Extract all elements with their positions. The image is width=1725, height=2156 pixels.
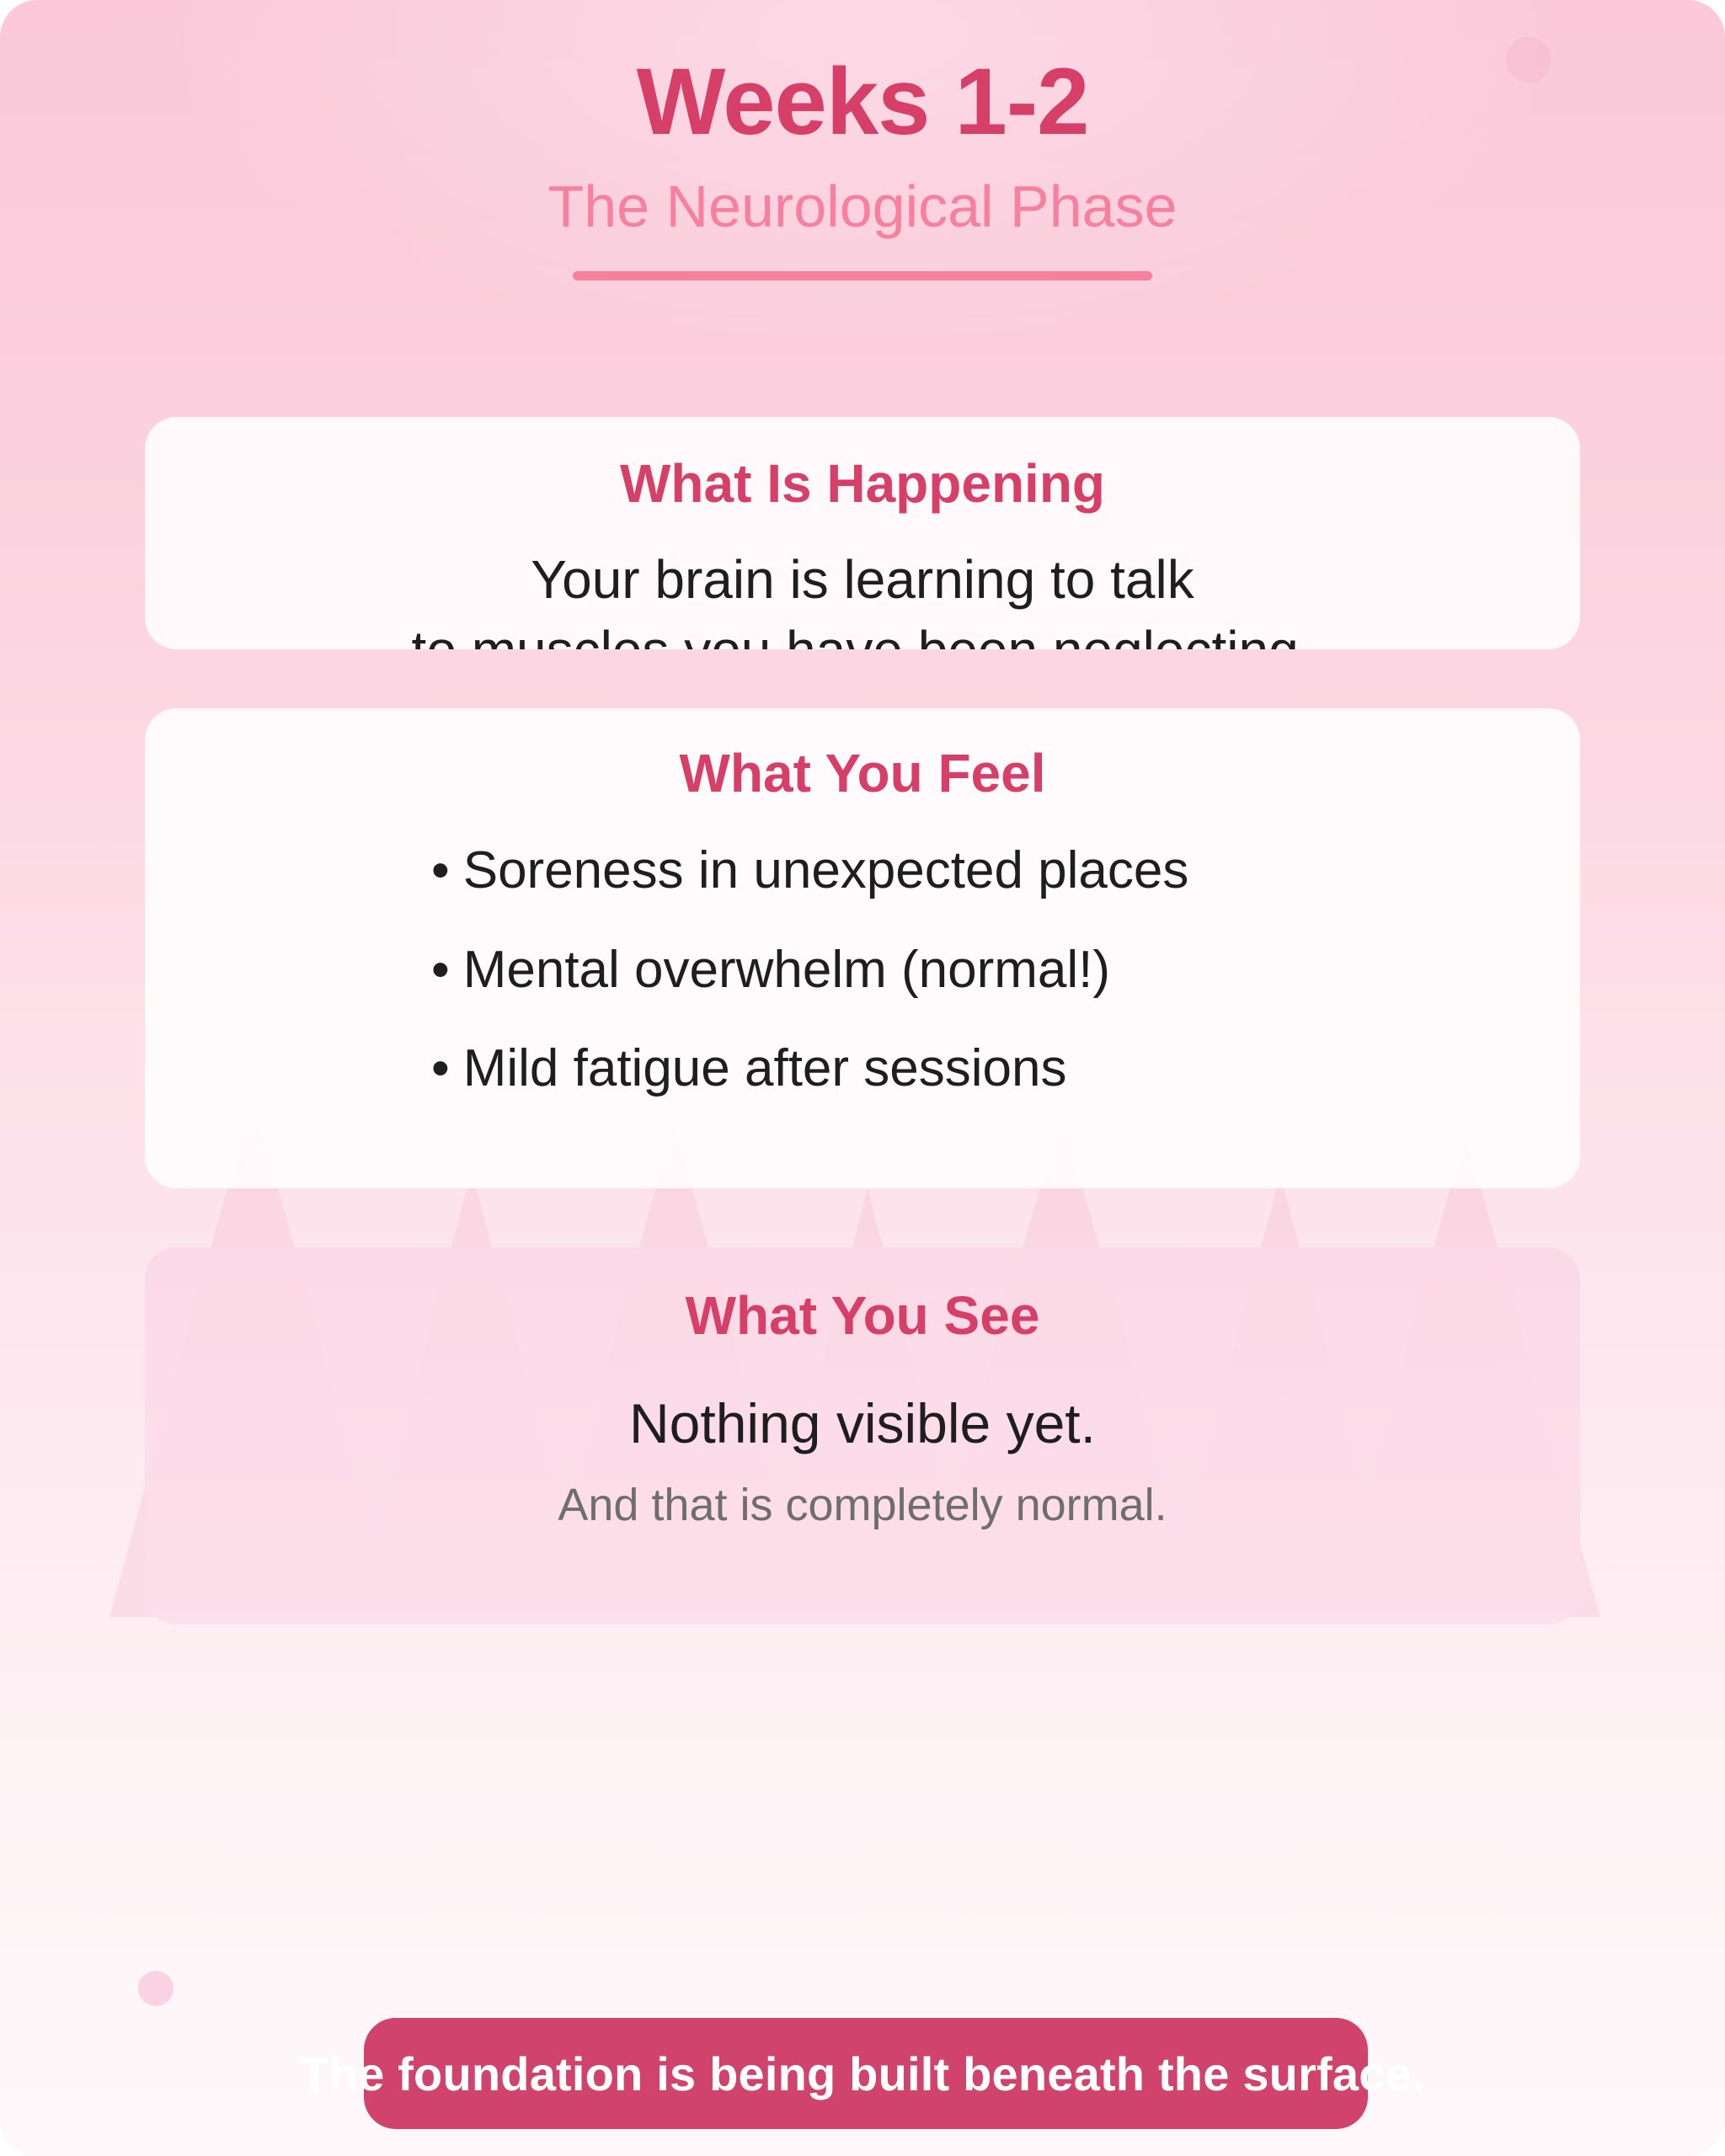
footer-banner: The foundation is being built beneath th… (0, 2018, 1725, 2144)
card-heading: What You Feel (145, 744, 1580, 803)
header-divider (573, 271, 1152, 280)
list-item: •Mental overwhelm (normal!) (431, 941, 1580, 999)
card-lead-text: Nothing visible yet. (145, 1390, 1580, 1457)
bullet-icon: • (431, 941, 450, 999)
card-what-you-feel: What You Feel •Soreness in unexpected pl… (145, 708, 1580, 1188)
card-what-you-see: What You See Nothing visible yet. And th… (145, 1247, 1580, 1625)
bullet-icon: • (431, 1039, 450, 1097)
page-subtitle: The Neurological Phase (0, 173, 1725, 241)
card-stack: What Is Happening Your brain is learning… (145, 417, 1580, 1625)
card-lead-text: Your brain is learning to talk to muscle… (145, 545, 1580, 649)
card-heading: What You See (145, 1286, 1580, 1345)
card-what-is-happening: What Is Happening Your brain is learning… (145, 417, 1580, 649)
list-item-label: Mild fatigue after sessions (463, 1039, 1067, 1097)
card-heading: What Is Happening (145, 454, 1580, 513)
page-title: Weeks 1-2 (0, 49, 1725, 154)
list-item: •Soreness in unexpected places (431, 841, 1580, 899)
poster-root: Weeks 1-2 The Neurological Phase What Is… (0, 0, 1725, 2156)
card-lead-line-2: to muscles you have been neglecting. (145, 616, 1580, 649)
list-item-label: Soreness in unexpected places (463, 841, 1189, 899)
card-sub-text: And that is completely normal. (145, 1478, 1580, 1533)
list-item: •Mild fatigue after sessions (431, 1039, 1580, 1097)
footer-banner-text: The foundation is being built beneath th… (0, 2018, 1725, 2129)
card-lead-line-1: Your brain is learning to talk (531, 549, 1194, 610)
decorative-circle-bottom-left (138, 1971, 174, 2006)
feel-bullet-list: •Soreness in unexpected places •Mental o… (145, 841, 1580, 1097)
bullet-icon: • (431, 841, 450, 899)
list-item-label: Mental overwhelm (normal!) (463, 941, 1110, 999)
page-header: Weeks 1-2 The Neurological Phase (0, 0, 1725, 280)
